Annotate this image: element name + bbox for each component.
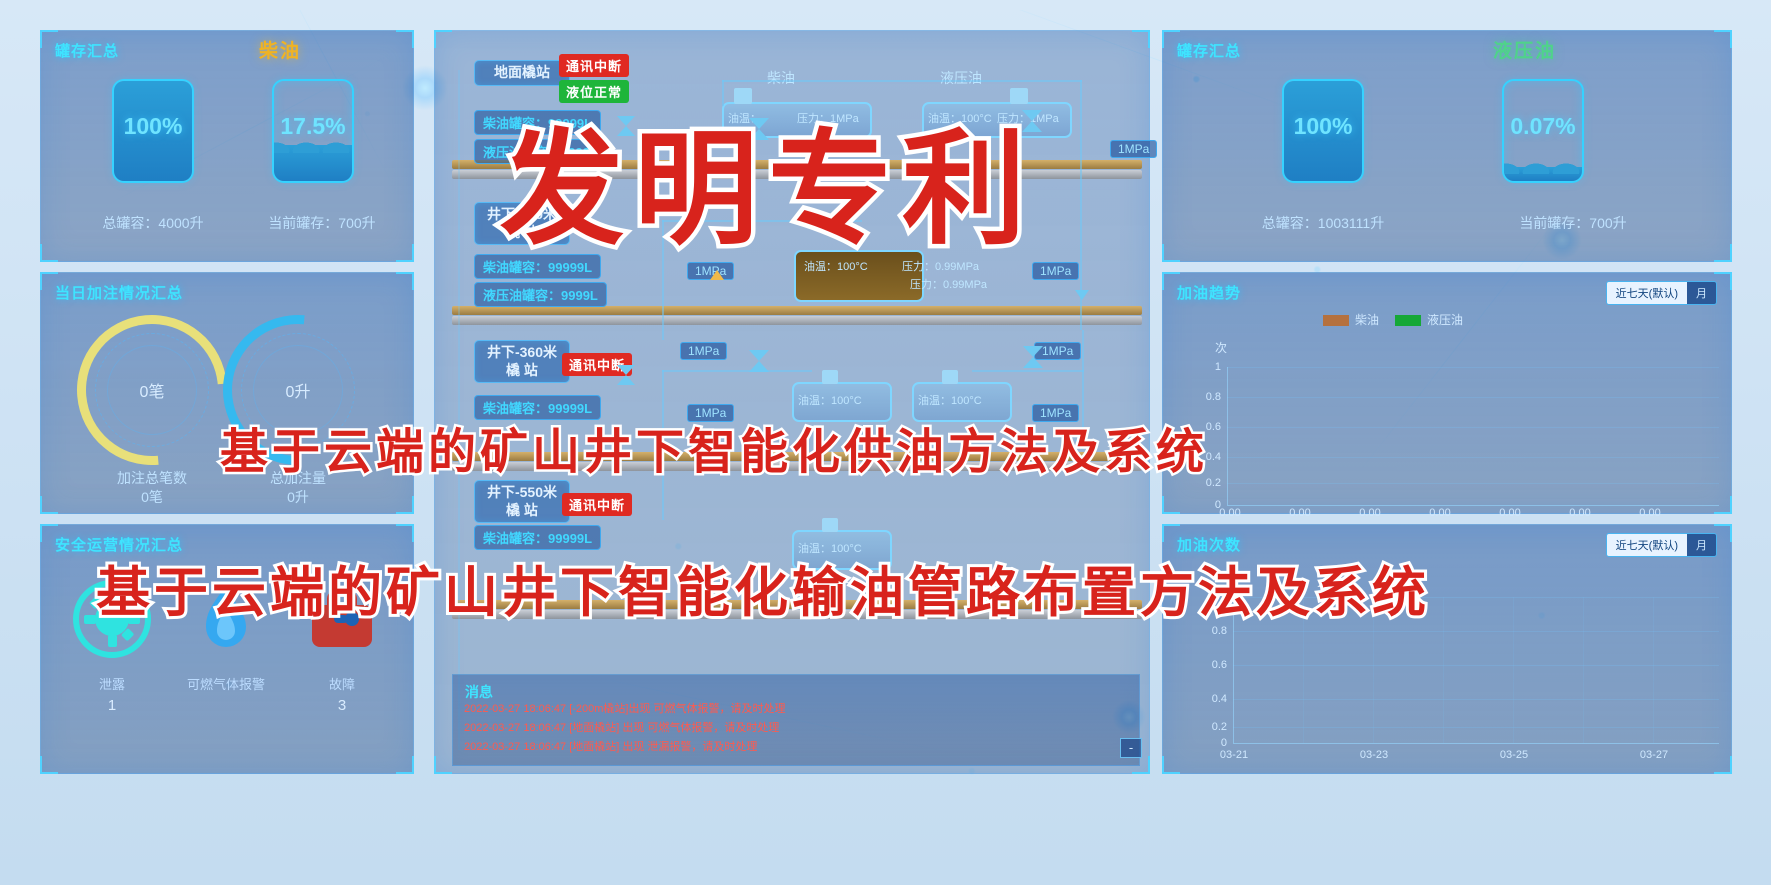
valve-icon bbox=[1023, 346, 1043, 373]
count-range-week[interactable]: 近七天(默认) bbox=[1607, 534, 1687, 556]
valve-icon bbox=[617, 365, 635, 390]
vessel-nozzle bbox=[942, 370, 958, 384]
gauge-subvalue-count: 0笔 bbox=[141, 489, 163, 505]
right-current-tank-label: 当前罐存：700升 bbox=[1453, 213, 1693, 233]
count-xtick: 03-27 bbox=[1631, 749, 1677, 761]
tank-fill bbox=[1504, 167, 1582, 181]
legend-item-hydraulic: 液压油 bbox=[1395, 311, 1463, 328]
count-range-month[interactable]: 月 bbox=[1687, 534, 1716, 556]
dashboard: 罐存汇总 柴油 100% 17.5% 总罐容：4000升 当前罐存：700升 bbox=[22, 10, 1749, 875]
left-current-tank: 17.5% bbox=[253, 79, 373, 183]
left-product-label: 柴油 bbox=[259, 36, 301, 63]
trend-legend: 柴油 液压油 bbox=[1323, 311, 1463, 328]
safety-value-fault: 3 bbox=[287, 697, 397, 714]
station-200-cap-hydraulic: 液压油罐容：9999L bbox=[474, 282, 607, 307]
trend-point-label: 0.00 bbox=[1417, 507, 1463, 519]
gauge-fill-count: 0笔 bbox=[77, 315, 227, 465]
trend-ytick: 1 bbox=[1195, 361, 1221, 373]
trend-point-label: 0.00 bbox=[1347, 507, 1393, 519]
station-550-badge-comm: 通讯中断 bbox=[562, 493, 632, 516]
message-line: 2022-03-27 18:06:47 [地面橇站] 出现 可燃气体报警，请及时… bbox=[464, 719, 779, 735]
tank-percent: 100% bbox=[114, 113, 192, 140]
tank-gauge: 0.07% bbox=[1502, 79, 1584, 183]
trend-range-toggle[interactable]: 近七天(默认) 月 bbox=[1606, 281, 1717, 305]
tank-percent: 17.5% bbox=[274, 113, 352, 140]
trend-point-label: 0.00 bbox=[1487, 507, 1533, 519]
right-current-tank: 0.07% bbox=[1483, 79, 1603, 183]
oil-label-diesel: 柴油 bbox=[767, 68, 795, 88]
watermark-line2: 基于云端的矿山井下智能化输油管路布置方法及系统 bbox=[96, 548, 1430, 627]
pipe-connector bbox=[722, 80, 1082, 82]
refuel-trend-title: 加油趋势 bbox=[1177, 282, 1241, 303]
trend-point-label: 0.00 bbox=[1557, 507, 1603, 519]
trend-ytick: 0.8 bbox=[1195, 391, 1221, 403]
left-tank-summary-title: 罐存汇总 bbox=[55, 40, 119, 61]
count-xtick: 03-21 bbox=[1211, 749, 1257, 761]
safety-value-leak: 1 bbox=[57, 697, 167, 714]
pipe-level-1 bbox=[452, 306, 1142, 315]
count-xtick: 03-23 bbox=[1351, 749, 1397, 761]
vessel-3-temp: 油温：100°C bbox=[798, 392, 862, 408]
count-ytick: 0 bbox=[1201, 737, 1227, 749]
trend-y-unit: 次 bbox=[1215, 339, 1227, 356]
vessel-nozzle bbox=[822, 370, 838, 384]
pipe-connector bbox=[972, 370, 1084, 372]
station-550-name[interactable]: 井下-550米 橇 站 bbox=[474, 480, 570, 523]
messages-title: 消息 bbox=[465, 682, 493, 702]
pressure-tag: 1MPa bbox=[1032, 262, 1079, 280]
tank-gauge: 17.5% bbox=[272, 79, 354, 183]
gauge-caption-count: 加注总笔数 bbox=[117, 470, 187, 486]
vessel-2-press2: 压力：0.99MPa bbox=[910, 276, 987, 292]
watermark-line1: 基于云端的矿山井下智能化供油方法及系统 bbox=[220, 412, 1208, 482]
safety-label-gas-alarm: 可燃气体报警 bbox=[171, 674, 281, 693]
count-range-toggle[interactable]: 近七天(默认) 月 bbox=[1606, 533, 1717, 557]
right-total-tank: 100% bbox=[1263, 79, 1383, 183]
count-xtick: 03-25 bbox=[1491, 749, 1537, 761]
station-ground-name[interactable]: 地面橇站 bbox=[474, 60, 570, 86]
pressure-tag: 1MPa bbox=[680, 342, 727, 360]
page-frame: 罐存汇总 柴油 100% 17.5% 总罐容：4000升 当前罐存：700升 bbox=[0, 0, 1771, 885]
trend-range-week[interactable]: 近七天(默认) bbox=[1607, 282, 1687, 304]
left-total-tank: 100% bbox=[93, 79, 213, 183]
count-ytick: 0.4 bbox=[1201, 693, 1227, 705]
tank-gauge: 100% bbox=[112, 79, 194, 183]
count-ytick: 0.2 bbox=[1201, 721, 1227, 733]
zoom-out-button[interactable]: - bbox=[1120, 738, 1142, 758]
pipe-level-1b bbox=[452, 316, 1142, 325]
trend-point-label: 0.00 bbox=[1627, 507, 1673, 519]
gauge-subvalue-volume: 0升 bbox=[287, 489, 309, 505]
right-product-label: 液压油 bbox=[1493, 36, 1556, 63]
station-360-name[interactable]: 井下-360米 橇 站 bbox=[474, 340, 570, 383]
trend-point-label: 0.00 bbox=[1277, 507, 1323, 519]
trend-range-month[interactable]: 月 bbox=[1687, 282, 1716, 304]
safety-label-fault: 故障 bbox=[287, 674, 397, 693]
gauge-value: 0笔 bbox=[77, 315, 227, 465]
pipe-connector bbox=[662, 370, 812, 372]
right-total-tank-label: 总罐容：1003111升 bbox=[1203, 213, 1443, 233]
vessel-nozzle bbox=[822, 518, 838, 532]
daily-fill-title: 当日加注情况汇总 bbox=[55, 282, 183, 303]
station-550-cap-diesel: 柴油罐容：99999L bbox=[474, 525, 601, 550]
panel-right-tank-summary: 罐存汇总 液压油 100% 0.07% 总罐容：1003111升 当前罐存：70… bbox=[1162, 30, 1732, 262]
tank-percent: 0.07% bbox=[1504, 113, 1582, 140]
watermark-title: 发明专利 bbox=[500, 88, 1036, 268]
flow-arrow-icon bbox=[710, 270, 724, 280]
pressure-tag: 1MPa bbox=[1110, 140, 1157, 158]
panel-refuel-trend: 加油趋势 近七天(默认) 月 柴油 液压油 次 1 0.8 0.6 0.4 0.… bbox=[1162, 272, 1732, 514]
riser-line bbox=[458, 70, 460, 750]
left-total-tank-label: 总罐容：4000升 bbox=[63, 213, 243, 233]
tank-fill bbox=[274, 145, 352, 181]
left-current-tank-label: 当前罐存：700升 bbox=[227, 213, 417, 233]
tank-percent: 100% bbox=[1284, 113, 1362, 140]
trend-point-label: 0.00 bbox=[1207, 507, 1253, 519]
flow-arrow-icon bbox=[1075, 290, 1089, 300]
tank-gauge: 100% bbox=[1282, 79, 1364, 183]
station-ground-badge-comm: 通讯中断 bbox=[559, 54, 629, 77]
safety-label-leak: 泄露 bbox=[57, 674, 167, 693]
vessel-4-temp: 油温：100°C bbox=[918, 392, 982, 408]
valve-icon bbox=[749, 350, 769, 377]
oil-label-hydraulic: 液压油 bbox=[940, 68, 982, 88]
count-ytick: 0.6 bbox=[1201, 659, 1227, 671]
message-line: 2022-03-27 18:06:47 [-200m橇站]出现 可燃气体报警，请… bbox=[464, 700, 786, 716]
legend-item-diesel: 柴油 bbox=[1323, 311, 1379, 328]
right-tank-summary-title: 罐存汇总 bbox=[1177, 40, 1241, 61]
message-line: 2022-03-27 18:06:47 [地面橇站] 出现 泄漏报警，请及时处理 bbox=[464, 738, 757, 754]
panel-left-tank-summary: 罐存汇总 柴油 100% 17.5% 总罐容：4000升 当前罐存：700升 bbox=[40, 30, 414, 262]
